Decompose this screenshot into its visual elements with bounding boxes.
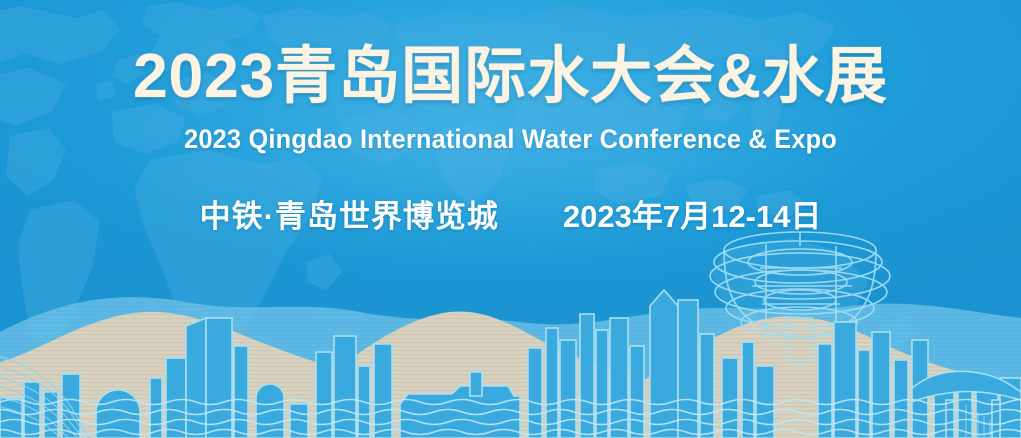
- banner-info-row: 中铁·青岛世界博览城 2023年7月12-14日: [0, 191, 1021, 236]
- banner-text-block: 2023青岛国际水大会&水展 2023 Qingdao Internationa…: [0, 0, 1021, 236]
- venue-label: 中铁·青岛世界博览城: [200, 191, 499, 236]
- event-banner: 2023青岛国际水大会&水展 2023 Qingdao Internationa…: [0, 0, 1021, 438]
- banner-title-chinese: 2023青岛国际水大会&水展: [0, 46, 1021, 108]
- date-label: 2023年7月12-14日: [563, 191, 822, 236]
- banner-title-english: 2023 Qingdao International Water Confere…: [31, 124, 991, 155]
